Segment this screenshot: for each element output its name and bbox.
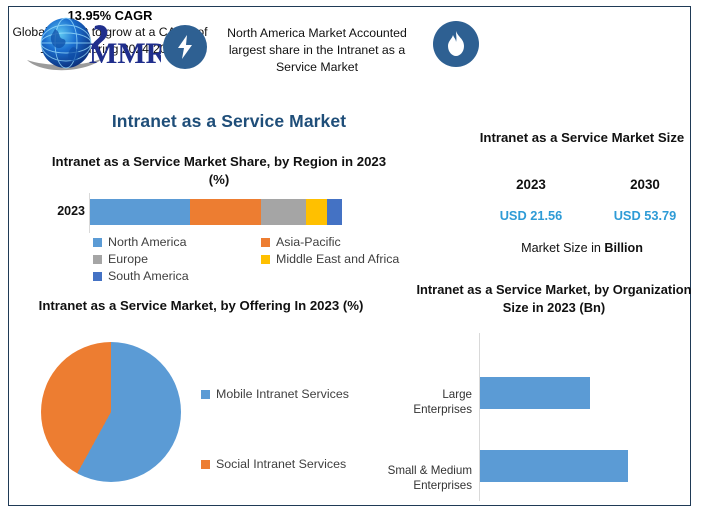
legend-item-middle-east-africa: Middle East and Africa	[261, 252, 399, 266]
offering-pie-chart	[41, 342, 181, 482]
legend-label: Social Intranet Services	[216, 457, 346, 471]
mmr-logo: MMR	[21, 13, 161, 79]
market-size-footer-prefix: Market Size in	[521, 241, 604, 255]
legend-item-europe: Europe	[93, 252, 261, 266]
market-size-value-end: USD 53.79	[595, 208, 695, 223]
north-america-note: North America Market Accounted largest s…	[211, 25, 423, 76]
region-legend: North America Asia-Pacific Europe Middle…	[93, 235, 423, 286]
org-bar-small-medium-enterprises	[480, 450, 628, 482]
legend-label: North America	[108, 235, 187, 249]
region-chart-title: Intranet as a Service Market Share, by R…	[41, 153, 397, 189]
flame-badge	[433, 21, 479, 67]
infographic-frame: MMR North America Market Accounted large…	[8, 6, 691, 506]
market-size-title: Intranet as a Service Market Size	[469, 129, 695, 147]
region-segment-north-america	[90, 199, 190, 225]
legend-row: Europe Middle East and Africa	[93, 252, 423, 266]
lightning-bolt-icon	[174, 34, 196, 60]
region-segment-middle-east-africa	[306, 199, 327, 225]
org-size-chart-title: Intranet as a Service Market, by Organiz…	[409, 281, 699, 317]
legend-spacer	[201, 401, 391, 457]
legend-label: South America	[108, 269, 189, 283]
market-size-value-start: USD 21.56	[481, 208, 581, 223]
region-share-chart: 2023	[37, 193, 377, 233]
logo-wordmark: MMR	[89, 37, 161, 70]
legend-row: North America Asia-Pacific	[93, 235, 423, 249]
legend-swatch-icon	[93, 255, 102, 264]
legend-item-mobile-intranet-services: Mobile Intranet Services	[201, 387, 391, 401]
legend-item-south-america: South America	[93, 269, 261, 283]
region-segment-south-america	[327, 199, 342, 225]
legend-swatch-icon	[261, 255, 270, 264]
legend-item-north-america: North America	[93, 235, 261, 249]
legend-label: Mobile Intranet Services	[216, 387, 349, 401]
org-category-label-small-medium-enterprises: Small & Medium Enterprises	[384, 463, 472, 493]
org-bar-large-enterprises	[480, 377, 590, 409]
market-size-year-end: 2030	[595, 177, 695, 192]
offering-chart-title: Intranet as a Service Market, by Offerin…	[31, 297, 371, 315]
market-size-footer-unit: Billion	[604, 241, 642, 255]
legend-label: Europe	[108, 252, 148, 266]
region-segment-europe	[261, 199, 306, 225]
org-size-chart: Large Enterprises Small & Medium Enterpr…	[384, 333, 694, 501]
page-title: Intranet as a Service Market	[39, 111, 419, 132]
region-axis-label: 2023	[37, 204, 85, 218]
offering-legend: Mobile Intranet Services Social Intranet…	[201, 387, 391, 471]
flame-icon	[445, 30, 467, 58]
legend-label: Middle East and Africa	[276, 252, 399, 266]
legend-swatch-icon	[201, 460, 210, 469]
region-stacked-bar	[90, 199, 342, 225]
legend-swatch-icon	[93, 238, 102, 247]
market-size-year-start: 2023	[481, 177, 581, 192]
legend-item-asia-pacific: Asia-Pacific	[261, 235, 341, 249]
legend-label: Asia-Pacific	[276, 235, 341, 249]
legend-row: South America	[93, 269, 423, 283]
lightning-bolt-badge	[163, 25, 207, 69]
legend-swatch-icon	[201, 390, 210, 399]
org-category-label-large-enterprises: Large Enterprises	[384, 387, 472, 417]
legend-item-social-intranet-services: Social Intranet Services	[201, 457, 391, 471]
region-segment-asia-pacific	[190, 199, 261, 225]
legend-swatch-icon	[93, 272, 102, 281]
legend-swatch-icon	[261, 238, 270, 247]
market-size-footer: Market Size in Billion	[469, 241, 695, 255]
globe-icon: MMR	[21, 13, 161, 79]
